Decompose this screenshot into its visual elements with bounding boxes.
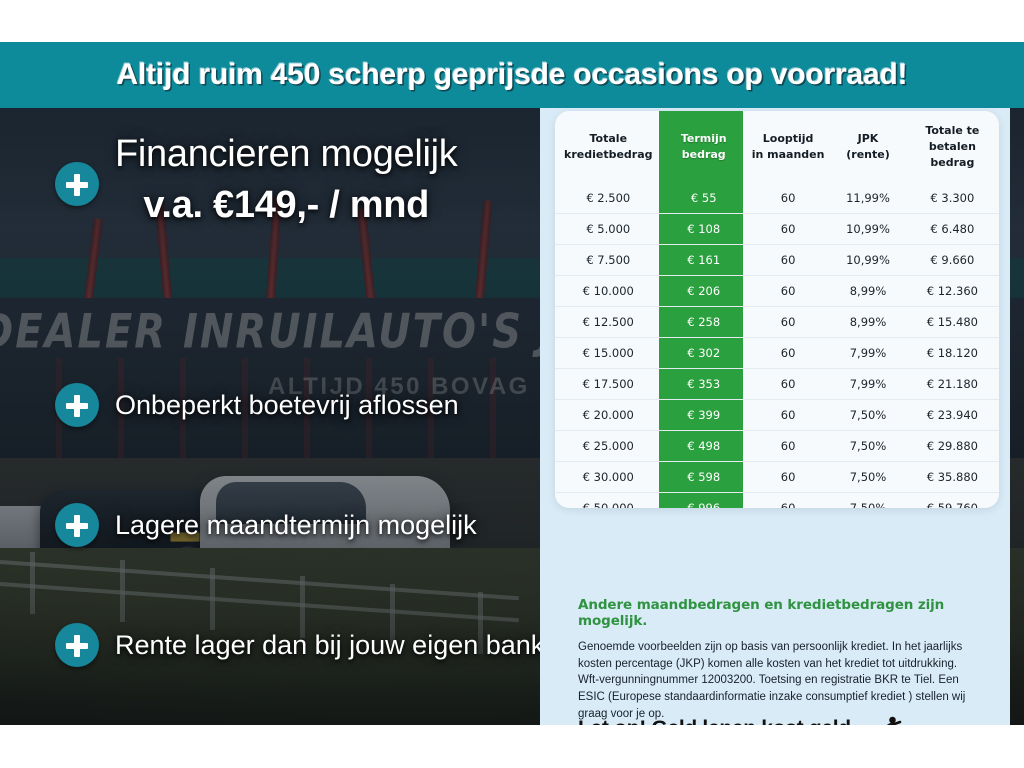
cell-looptijd: 60 bbox=[746, 213, 830, 244]
cell-looptijd: 60 bbox=[746, 492, 830, 508]
table-row: € 50.000€ 996607,50%€ 59.760 bbox=[555, 492, 999, 508]
cell-jpk: 7,50% bbox=[830, 492, 905, 508]
cell-totaal: € 23.940 bbox=[906, 399, 999, 430]
table-row: € 30.000€ 598607,50%€ 35.880 bbox=[555, 461, 999, 492]
column-header-kredietbedrag-line1: Totale bbox=[557, 131, 660, 147]
cell-termijnbedrag: € 399 bbox=[662, 399, 746, 430]
cell-looptijd: 60 bbox=[746, 430, 830, 461]
cell-jpk: 7,50% bbox=[830, 461, 905, 492]
financing-info-panel: Totale kredietbedrag Termijn bedrag Loop… bbox=[540, 102, 1010, 725]
benefit-financing-line2: v.a. €149,- / mnd bbox=[115, 181, 458, 230]
cell-kredietbedrag: € 7.500 bbox=[555, 244, 662, 275]
cell-totaal: € 18.120 bbox=[906, 337, 999, 368]
plus-icon bbox=[55, 623, 99, 667]
cell-kredietbedrag: € 2.500 bbox=[555, 183, 662, 214]
cell-jpk: 7,50% bbox=[830, 430, 905, 461]
cell-totaal: € 6.480 bbox=[906, 213, 999, 244]
table-row: € 10.000€ 206608,99%€ 12.360 bbox=[555, 275, 999, 306]
benefit-financing-text: Financieren mogelijk v.a. €149,- / mnd bbox=[115, 130, 458, 229]
cell-looptijd: 60 bbox=[746, 399, 830, 430]
table-row: € 25.000€ 498607,50%€ 29.880 bbox=[555, 430, 999, 461]
column-header-looptijd: Looptijd in maanden bbox=[746, 111, 830, 183]
rate-table-body: € 2.500€ 556011,99%€ 3.300€ 5.000€ 10860… bbox=[555, 183, 999, 508]
headline-text: Altijd ruim 450 scherp geprijsde occasio… bbox=[117, 58, 908, 92]
column-header-jpk-line2: (rente) bbox=[832, 147, 903, 163]
table-row: € 12.500€ 258608,99%€ 15.480 bbox=[555, 306, 999, 337]
cell-jpk: 8,99% bbox=[830, 306, 905, 337]
credit-warning: Let op! Geld lenen kost geld bbox=[578, 716, 905, 725]
table-header-row: Totale kredietbedrag Termijn bedrag Loop… bbox=[555, 111, 999, 183]
rate-table-head: Totale kredietbedrag Termijn bedrag Loop… bbox=[555, 111, 999, 183]
column-header-kredietbedrag-line2: kredietbedrag bbox=[557, 147, 660, 163]
cell-kredietbedrag: € 15.000 bbox=[555, 337, 662, 368]
cell-looptijd: 60 bbox=[746, 368, 830, 399]
cell-jpk: 7,50% bbox=[830, 399, 905, 430]
benefit-item-financing: Financieren mogelijk v.a. €149,- / mnd bbox=[55, 130, 458, 229]
cell-termijnbedrag: € 206 bbox=[662, 275, 746, 306]
plus-icon bbox=[55, 503, 99, 547]
cell-kredietbedrag: € 25.000 bbox=[555, 430, 662, 461]
cell-jpk: 11,99% bbox=[830, 183, 905, 214]
cell-kredietbedrag: € 30.000 bbox=[555, 461, 662, 492]
disclaimer-body: Genoemde voorbeelden zijn op basis van p… bbox=[578, 639, 978, 722]
advertisement-image: DEALER INRUILAUTO'S JOHAN MEURE ALTIJD 4… bbox=[0, 42, 1024, 725]
benefit-aflossen-label: Onbeperkt boetevrij aflossen bbox=[115, 388, 459, 423]
column-header-totaal-line1: Totale te bbox=[908, 123, 997, 139]
cell-termijnbedrag: € 996 bbox=[662, 492, 746, 508]
benefit-financing-line1: Financieren mogelijk bbox=[115, 130, 458, 179]
cell-totaal: € 59.760 bbox=[906, 492, 999, 508]
cell-kredietbedrag: € 50.000 bbox=[555, 492, 662, 508]
cell-kredietbedrag: € 17.500 bbox=[555, 368, 662, 399]
disclaimer-title: Andere maandbedragen en kredietbedragen … bbox=[578, 597, 978, 629]
cell-termijnbedrag: € 353 bbox=[662, 368, 746, 399]
disclaimer-block: Andere maandbedragen en kredietbedragen … bbox=[578, 597, 978, 722]
cell-totaal: € 12.360 bbox=[906, 275, 999, 306]
cell-jpk: 10,99% bbox=[830, 213, 905, 244]
rate-table: Totale kredietbedrag Termijn bedrag Loop… bbox=[555, 111, 999, 508]
cell-totaal: € 21.180 bbox=[906, 368, 999, 399]
cell-looptijd: 60 bbox=[746, 461, 830, 492]
column-header-jpk: JPK (rente) bbox=[830, 111, 905, 183]
column-header-totaal-line2: betalen bedrag bbox=[908, 139, 997, 171]
plus-icon bbox=[55, 383, 99, 427]
column-header-termijnbedrag: Termijn bedrag bbox=[662, 111, 746, 183]
cell-termijnbedrag: € 302 bbox=[662, 337, 746, 368]
credit-warning-text: Let op! Geld lenen kost geld bbox=[578, 717, 851, 725]
cell-looptijd: 60 bbox=[746, 183, 830, 214]
cell-termijnbedrag: € 161 bbox=[662, 244, 746, 275]
cell-totaal: € 29.880 bbox=[906, 430, 999, 461]
cell-kredietbedrag: € 10.000 bbox=[555, 275, 662, 306]
table-row: € 5.000€ 1086010,99%€ 6.480 bbox=[555, 213, 999, 244]
cell-jpk: 7,99% bbox=[830, 337, 905, 368]
table-row: € 17.500€ 353607,99%€ 21.180 bbox=[555, 368, 999, 399]
cell-totaal: € 35.880 bbox=[906, 461, 999, 492]
cell-looptijd: 60 bbox=[746, 337, 830, 368]
cell-termijnbedrag: € 598 bbox=[662, 461, 746, 492]
benefit-item-rente: Rente lager dan bij jouw eigen bank bbox=[55, 623, 544, 667]
cell-totaal: € 15.480 bbox=[906, 306, 999, 337]
rate-table-card: Totale kredietbedrag Termijn bedrag Loop… bbox=[555, 111, 999, 508]
benefit-maandtermijn-label: Lagere maandtermijn mogelijk bbox=[115, 508, 477, 543]
column-header-totaal: Totale te betalen bedrag bbox=[906, 111, 999, 183]
cell-jpk: 7,99% bbox=[830, 368, 905, 399]
screenshot-canvas: DEALER INRUILAUTO'S JOHAN MEURE ALTIJD 4… bbox=[0, 0, 1024, 768]
column-header-termijnbedrag-line1: Termijn bbox=[664, 131, 744, 147]
cell-totaal: € 9.660 bbox=[906, 244, 999, 275]
benefit-rente-label: Rente lager dan bij jouw eigen bank bbox=[115, 628, 544, 663]
column-header-termijnbedrag-line2: bedrag bbox=[664, 147, 744, 163]
benefit-item-aflossen: Onbeperkt boetevrij aflossen bbox=[55, 383, 459, 427]
plus-icon bbox=[55, 162, 99, 206]
cell-jpk: 8,99% bbox=[830, 275, 905, 306]
table-row: € 20.000€ 399607,50%€ 23.940 bbox=[555, 399, 999, 430]
cell-kredietbedrag: € 20.000 bbox=[555, 399, 662, 430]
benefit-item-maandtermijn: Lagere maandtermijn mogelijk bbox=[55, 503, 477, 547]
cell-looptijd: 60 bbox=[746, 244, 830, 275]
table-row: € 2.500€ 556011,99%€ 3.300 bbox=[555, 183, 999, 214]
column-header-looptijd-line1: Looptijd bbox=[748, 131, 828, 147]
cell-looptijd: 60 bbox=[746, 275, 830, 306]
headline-banner: Altijd ruim 450 scherp geprijsde occasio… bbox=[0, 42, 1024, 108]
column-header-looptijd-line2: in maanden bbox=[748, 147, 828, 163]
table-row: € 7.500€ 1616010,99%€ 9.660 bbox=[555, 244, 999, 275]
table-row: € 15.000€ 302607,99%€ 18.120 bbox=[555, 337, 999, 368]
cell-kredietbedrag: € 5.000 bbox=[555, 213, 662, 244]
column-header-kredietbedrag: Totale kredietbedrag bbox=[555, 111, 662, 183]
cell-totaal: € 3.300 bbox=[906, 183, 999, 214]
afm-ball-and-chain-icon bbox=[859, 716, 905, 725]
cell-termijnbedrag: € 108 bbox=[662, 213, 746, 244]
cell-termijnbedrag: € 258 bbox=[662, 306, 746, 337]
benefits-list: Financieren mogelijk v.a. €149,- / mnd O… bbox=[0, 108, 545, 725]
cell-kredietbedrag: € 12.500 bbox=[555, 306, 662, 337]
cell-jpk: 10,99% bbox=[830, 244, 905, 275]
cell-termijnbedrag: € 55 bbox=[662, 183, 746, 214]
cell-looptijd: 60 bbox=[746, 306, 830, 337]
cell-termijnbedrag: € 498 bbox=[662, 430, 746, 461]
column-header-jpk-line1: JPK bbox=[832, 131, 903, 147]
